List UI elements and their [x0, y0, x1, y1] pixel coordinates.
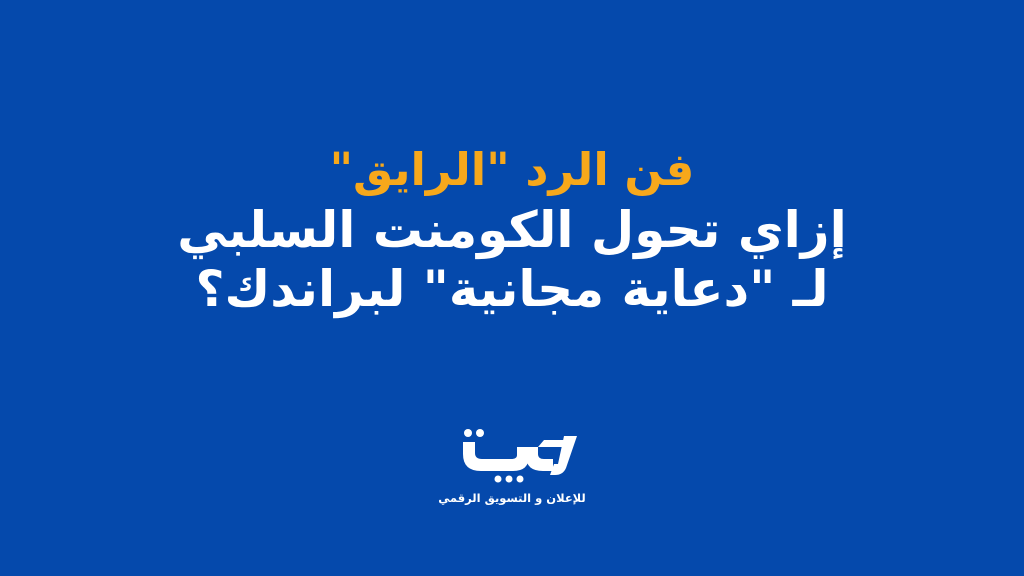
raheeq-logo-icon [446, 425, 578, 487]
headline-line-3: لـ "دعاية مجانية" لبراندك؟ [0, 260, 1024, 319]
headline-line-1: فن الرد "الرايق" [0, 139, 1024, 201]
logo-tagline: للإعلان و التسويق الرقمي [438, 491, 585, 505]
brand-logo: للإعلان و التسويق الرقمي [0, 425, 1024, 505]
headline-block: فن الرد "الرايق" إزاي تحول الكومنت السلب… [0, 139, 1024, 319]
social-media-poster: فن الرد "الرايق" إزاي تحول الكومنت السلب… [0, 0, 1024, 576]
headline-line-2: إزاي تحول الكومنت السلبي [0, 201, 1024, 260]
